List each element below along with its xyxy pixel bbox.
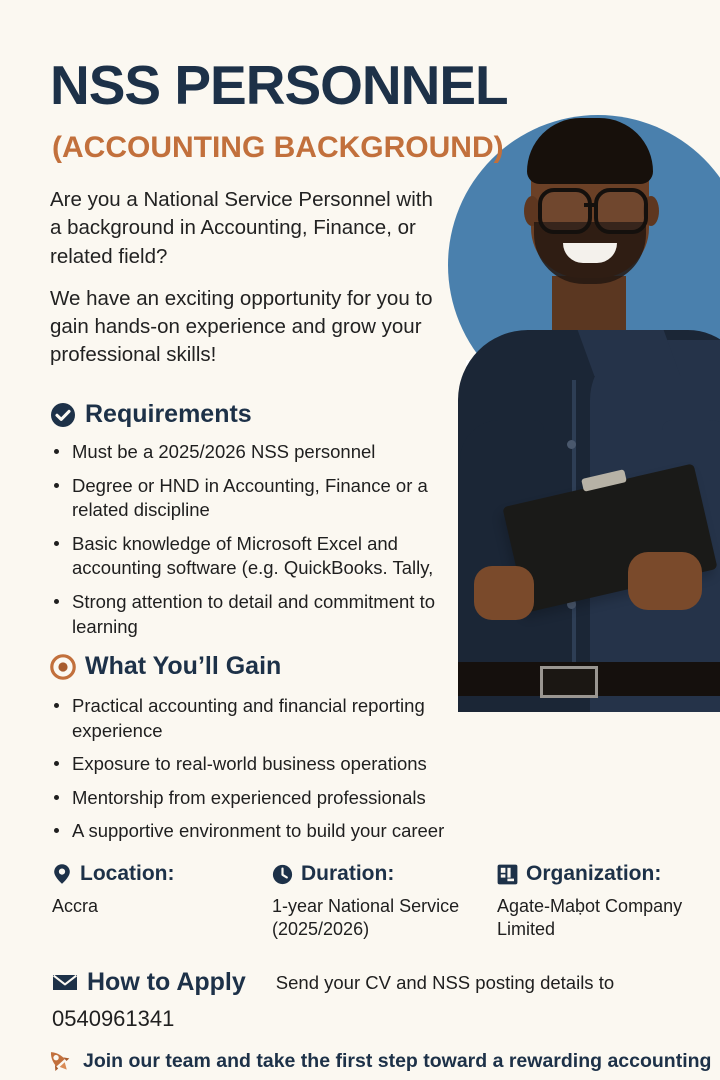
cta-text: Join our team and take the first step to… — [83, 1050, 711, 1073]
info-location: Location: Accra — [52, 862, 262, 918]
flyer-content: NSS PERSONNEL (ACCOUNTING BACKGROUND) Ar… — [0, 0, 720, 1080]
page-title: NSS PERSONNEL — [50, 58, 508, 113]
rocket-icon — [44, 1046, 74, 1076]
list-item: Exposure to real-world business operatio… — [50, 752, 470, 777]
apply-phone[interactable]: 0540961341 — [52, 1006, 174, 1032]
clock-icon — [272, 864, 293, 885]
info-location-value: Accra — [52, 895, 262, 918]
apply-heading-label: How to Apply — [87, 968, 246, 997]
list-item: Mentorship from experienced professional… — [50, 786, 470, 811]
job-flyer: NSS PERSONNEL (ACCOUNTING BACKGROUND) Ar… — [0, 0, 720, 1080]
info-duration: Duration: 1-year National Service (2025/… — [272, 862, 487, 942]
intro-paragraphs: Are you a National Service Personnel wit… — [50, 186, 440, 384]
envelope-icon — [52, 973, 78, 992]
location-pin-icon — [52, 863, 72, 885]
requirements-list: Must be a 2025/2026 NSS personnel Degree… — [50, 440, 450, 648]
gain-list: Practical accounting and financial repor… — [50, 694, 470, 853]
apply-heading: How to Apply — [52, 968, 246, 997]
requirements-heading-label: Requirements — [85, 400, 252, 429]
info-organization: Organization: Agate-Maḅot Company Limite… — [497, 862, 712, 942]
cta-line: Join our team and take the first step to… — [44, 1046, 711, 1076]
info-organization-heading: Organization: — [497, 862, 712, 886]
page-subtitle: (ACCOUNTING BACKGROUND) — [52, 133, 504, 163]
info-organization-value: Agate-Maḅot Company Limited — [497, 895, 712, 942]
list-item: Must be a 2025/2026 NSS personnel — [50, 440, 450, 465]
building-icon — [497, 864, 518, 885]
gain-heading: What You’ll Gain — [50, 652, 281, 681]
info-duration-heading: Duration: — [272, 862, 487, 886]
list-item: A supportive environment to build your c… — [50, 819, 470, 844]
apply-row: How to Apply Send your CV and NSS postin… — [52, 968, 614, 997]
info-duration-label: Duration: — [301, 862, 394, 886]
list-item: Basic knowledge of Microsoft Excel and a… — [50, 532, 450, 581]
info-duration-value: 1-year National Service (2025/2026) — [272, 895, 487, 942]
intro-paragraph-2: We have an exciting opportunity for you … — [50, 285, 440, 370]
check-circle-icon — [50, 402, 76, 428]
requirements-heading: Requirements — [50, 400, 252, 429]
info-organization-label: Organization: — [526, 862, 661, 886]
target-icon — [50, 654, 76, 680]
list-item: Strong attention to detail and commitmen… — [50, 590, 450, 639]
info-location-heading: Location: — [52, 862, 262, 886]
intro-paragraph-1: Are you a National Service Personnel wit… — [50, 186, 440, 271]
list-item: Practical accounting and financial repor… — [50, 694, 470, 743]
info-location-label: Location: — [80, 862, 175, 886]
gain-heading-label: What You’ll Gain — [85, 652, 281, 681]
list-item: Degree or HND in Accounting, Finance or … — [50, 474, 450, 523]
apply-note: Send your CV and NSS posting details to — [276, 972, 614, 994]
